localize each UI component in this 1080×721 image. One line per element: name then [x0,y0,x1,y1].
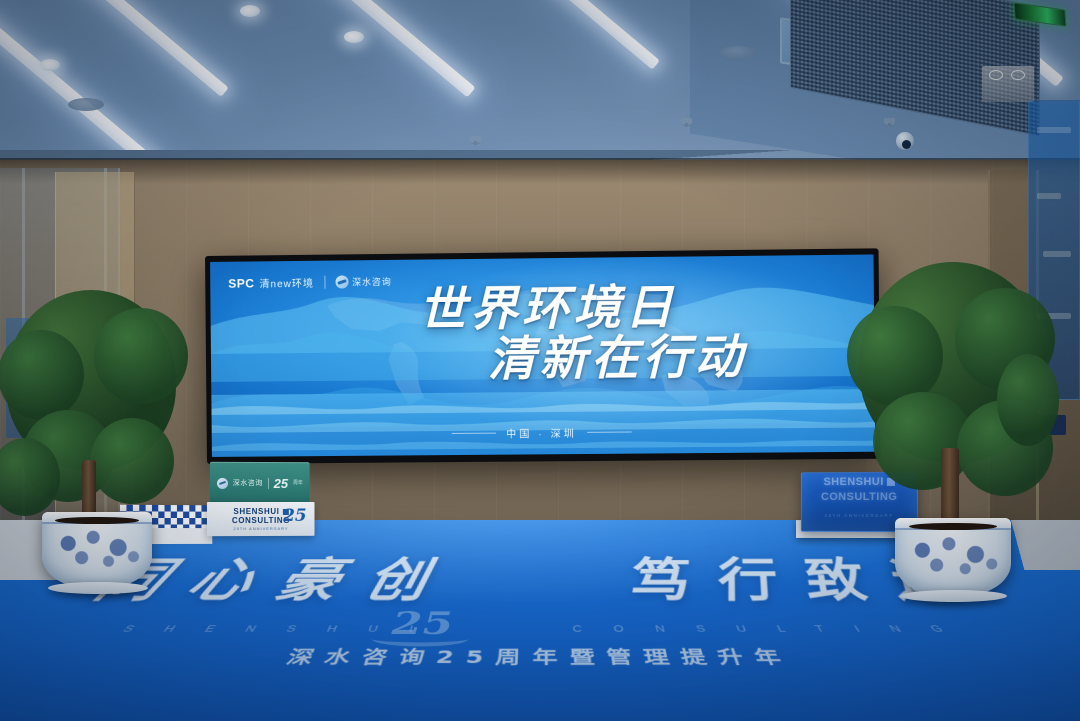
spc-logo-cn: 清new环境 [259,275,314,291]
sprinkler-head-icon [470,136,481,143]
wall-shadow [0,158,1080,184]
wall-plaque [982,66,1034,102]
floor-swoosh-graphic [371,632,469,647]
foliage [997,354,1059,446]
podium-left-line-2: CONSULTING [232,516,290,525]
podium-left-base-line2: CONSULTING [232,516,290,525]
divider [268,478,269,489]
planter-saucer [48,582,148,594]
podium-left-base-number: 25 [283,506,306,526]
podium-left-base-panel: SHENSHUI CONSULTING 25 25TH ANNIVERSARY [207,502,315,536]
foliage [847,306,943,406]
foliage [94,308,188,404]
foliage [0,330,84,420]
planter-saucer [901,590,1007,602]
podium-left[interactable]: 深水咨询 25 周年 SHENSHUI CONSULTING 25 25TH A… [207,462,315,534]
shenshui-badge-icon [217,477,228,488]
potted-plant-right [845,262,1055,602]
ceiling-light-strip [430,0,660,70]
led-logo-bar: SPC 清new环境 深水咨询 [228,274,391,291]
spc-logo: SPC 清new环境 [228,275,314,291]
shenshui-badge-icon [335,275,348,288]
lobby-photo-scene: SPC 清new环境 深水咨询 世界环境日 清新在行动 [0,0,1080,721]
podium-left-base-line1: SHENSHUI [233,507,279,516]
led-title-line-2: 清新在行动 [211,329,875,390]
podium-left-top-cn: 深水咨询 [233,478,263,488]
plaque-icon [1011,70,1025,80]
ceiling-downlight [40,59,60,71]
shenshui-logo: 深水咨询 [335,275,392,289]
security-camera-icon [896,132,914,150]
podium-left-line-1: SHENSHUI [233,507,288,516]
smoke-detector-icon [720,46,756,59]
foliage [90,418,174,504]
floor-english-combined: S H E N S H U I C O N S U L T I N G [0,623,1080,633]
spc-logo-mark: SPC [228,276,254,290]
sprinkler-head-icon [884,118,895,125]
subtitle-rule-right [587,431,632,432]
podium-left-top-number: 25 [274,476,288,491]
led-video-wall[interactable]: SPC 清new环境 深水咨询 世界环境日 清新在行动 [205,248,881,464]
blue-white-motif [49,523,146,575]
ceiling-light-strip [0,0,229,97]
porcelain-planter [895,518,1011,596]
floor-subtitle: 深水咨询25周年暨管理提升年 [0,644,1080,669]
led-title-block: 世界环境日 清新在行动 [210,279,874,390]
sprinkler-head-icon [681,118,692,125]
shenshui-logo-cn: 深水咨询 [352,275,392,288]
podium-left-top-panel: 深水咨询 25 周年 [210,462,310,504]
plaque-icon [989,70,1003,80]
podium-left-base-line3: 25TH ANNIVERSARY [233,526,288,531]
floor-en-right: C O N S U L T I N G [572,623,960,633]
blue-white-motif [902,529,1004,582]
subtitle-rule-left [452,433,496,434]
potted-plant-left [0,290,188,600]
led-bezel: SPC 清new环境 深水咨询 世界环境日 清新在行动 [205,248,881,464]
led-display-surface: SPC 清new环境 深水咨询 世界环境日 清新在行动 [210,254,875,457]
logo-divider [324,276,325,289]
porcelain-planter [42,512,152,588]
podium-left-top-anniversary: 周年 [293,480,303,486]
ceiling-downlight [240,5,260,17]
led-subtitle-text: 中国 · 深圳 [506,425,577,441]
smoke-detector-icon [68,98,104,111]
ceiling-downlight [344,31,364,43]
